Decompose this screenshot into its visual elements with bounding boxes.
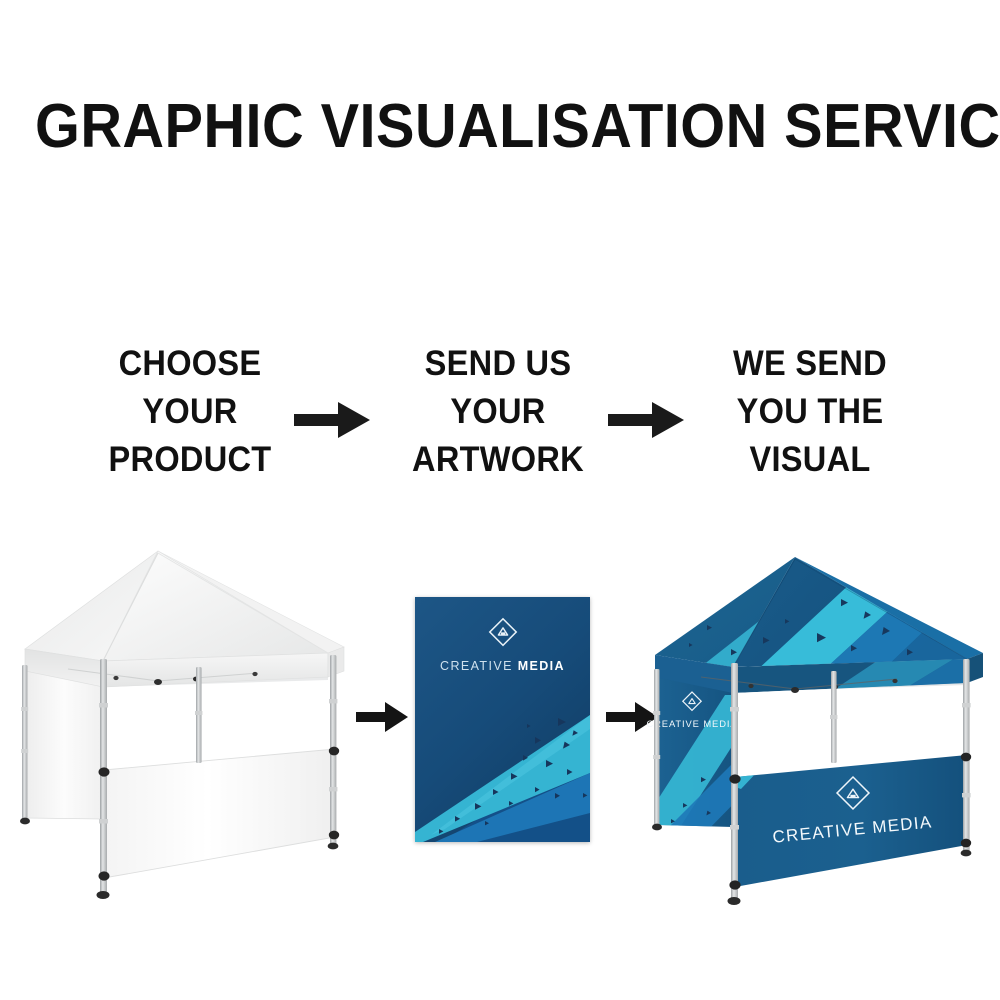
artwork-logo-block: CREATIVE MEDIA [415,615,590,673]
product-artwork-panel: CREATIVE MEDIA [415,597,590,842]
arrow-right-icon [356,700,408,734]
steps-row: CHOOSE YOUR PRODUCT SEND US YOUR ARTWORK… [0,340,1000,500]
step-3-line-1: WE SEND [689,340,931,388]
artwork-card: CREATIVE MEDIA [415,597,590,842]
product-blank-white-gazebo [8,535,360,915]
step-2-line-3: ARTWORK [377,436,619,484]
step-1-line-3: PRODUCT [69,436,311,484]
arrow-right-icon [294,400,370,440]
step-label-we-send-you-the-visual: WE SEND YOU THE VISUAL [689,340,931,484]
gazebo-back-wall [25,670,103,819]
artwork-wordmark: CREATIVE MEDIA [440,659,565,673]
step-1-line-2: YOUR [69,388,311,436]
step-3-line-2: YOU THE [689,388,931,436]
step-3-line-3: VISUAL [689,436,931,484]
artwork-brand-word-2: MEDIA [518,659,565,673]
artwork-brand-word-1: CREATIVE [440,659,513,673]
step-label-send-us-your-artwork: SEND US YOUR ARTWORK [377,340,619,484]
gazebo-front-banner [104,749,335,878]
diamond-logo-icon [486,615,520,649]
page-title: GRAPHIC VISUALISATION SERVICE [35,96,965,158]
step-2-line-1: SEND US [377,340,619,388]
poster-canvas: GRAPHIC VISUALISATION SERVICE CHOOSE YOU… [0,0,1000,1000]
step-1-line-1: CHOOSE [69,340,311,388]
step-label-choose-your-product: CHOOSE YOUR PRODUCT [69,340,311,484]
arrow-right-icon [608,400,684,440]
gazebo-front-banner: CREATIVE MEDIA [723,751,967,887]
step-2-line-2: YOUR [377,388,619,436]
side-wall-brand-text: CREATIVE MEDIA [646,718,737,729]
product-printed-gazebo: CREATIVE MEDIA [645,545,997,917]
